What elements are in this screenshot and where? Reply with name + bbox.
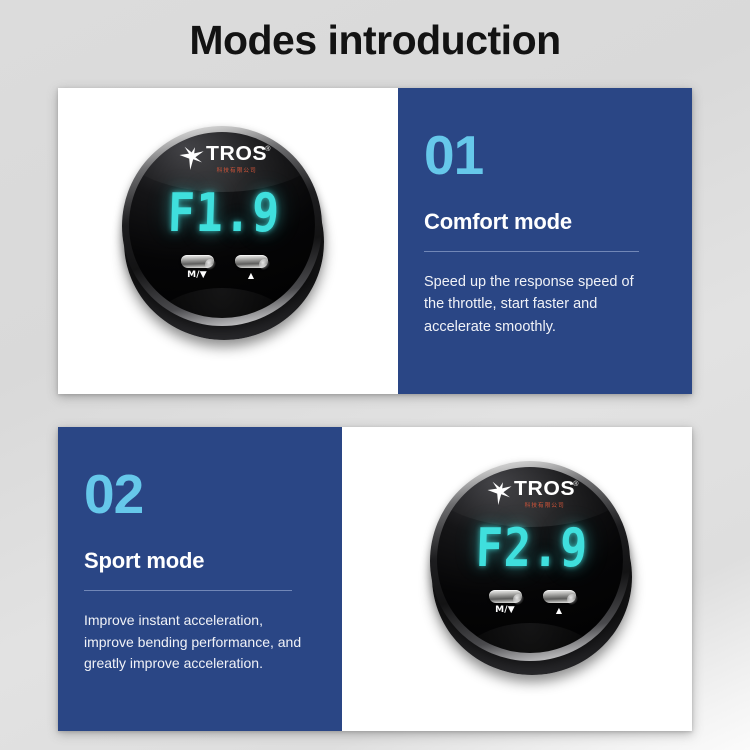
- star-icon: [178, 146, 205, 171]
- device-button-row: M/▼ ▲: [428, 590, 636, 615]
- mode-number: 02: [84, 467, 316, 522]
- mode-up-button-label: ▲: [556, 607, 562, 615]
- mode-down-button-label: M/▼: [495, 606, 515, 615]
- mode-title: Sport mode: [84, 548, 316, 574]
- logo-text-block: TROS ® 科技有限公司: [514, 480, 579, 509]
- device-button-row: M/▼ ▲: [120, 255, 328, 280]
- brand-subtitle-cn: 科技有限公司: [525, 501, 565, 509]
- mode-up-button-group[interactable]: ▲: [543, 590, 576, 615]
- mode-up-button-label: ▲: [248, 272, 254, 280]
- mode-card-comfort: TROS ® 科技有限公司 F1.9 M/▼ ▲ 01: [58, 88, 692, 394]
- mode-up-button[interactable]: [543, 590, 576, 603]
- info-panel-2: 02 Sport mode Improve instant accelerati…: [58, 427, 342, 731]
- brand-subtitle-cn: 科技有限公司: [217, 166, 257, 174]
- mode-card-sport: 02 Sport mode Improve instant accelerati…: [58, 427, 692, 731]
- star-icon: [486, 481, 513, 506]
- mode-description: Improve instant acceleration, improve be…: [84, 610, 316, 675]
- led-display-value: F2.9: [427, 516, 637, 579]
- device-panel-2: TROS ® 科技有限公司 F2.9 M/▼ ▲: [342, 427, 692, 731]
- led-display-value: F1.9: [119, 181, 329, 244]
- info-panel-1: 01 Comfort mode Speed up the response sp…: [398, 88, 692, 394]
- mode-down-button-group[interactable]: M/▼: [489, 590, 522, 615]
- throttle-controller-device-2: TROS ® 科技有限公司 F2.9 M/▼ ▲: [428, 459, 636, 683]
- logo-text-block: TROS ® 科技有限公司: [206, 145, 271, 174]
- panel-divider: [424, 251, 639, 252]
- logo-wordmark-row: TROS ®: [206, 145, 271, 164]
- mode-down-button-label: M/▼: [187, 271, 207, 280]
- tros-logo: TROS ® 科技有限公司: [428, 480, 636, 509]
- panel-divider: [84, 590, 292, 591]
- throttle-controller-device-1: TROS ® 科技有限公司 F1.9 M/▼ ▲: [120, 124, 328, 348]
- brand-name: TROS: [206, 145, 267, 164]
- device-panel-1: TROS ® 科技有限公司 F1.9 M/▼ ▲: [58, 88, 398, 394]
- mode-up-button[interactable]: [235, 255, 268, 268]
- mode-down-button[interactable]: [181, 255, 214, 268]
- mode-title: Comfort mode: [424, 209, 666, 235]
- tros-logo: TROS ® 科技有限公司: [120, 145, 328, 174]
- page-title: Modes introduction: [0, 17, 750, 64]
- mode-down-button-group[interactable]: M/▼: [181, 255, 214, 280]
- brand-name: TROS: [514, 480, 575, 499]
- logo-wordmark-row: TROS ®: [514, 480, 579, 499]
- mode-down-button[interactable]: [489, 590, 522, 603]
- mode-description: Speed up the response speed of the throt…: [424, 271, 639, 338]
- mode-number: 01: [424, 128, 666, 183]
- mode-up-button-group[interactable]: ▲: [235, 255, 268, 280]
